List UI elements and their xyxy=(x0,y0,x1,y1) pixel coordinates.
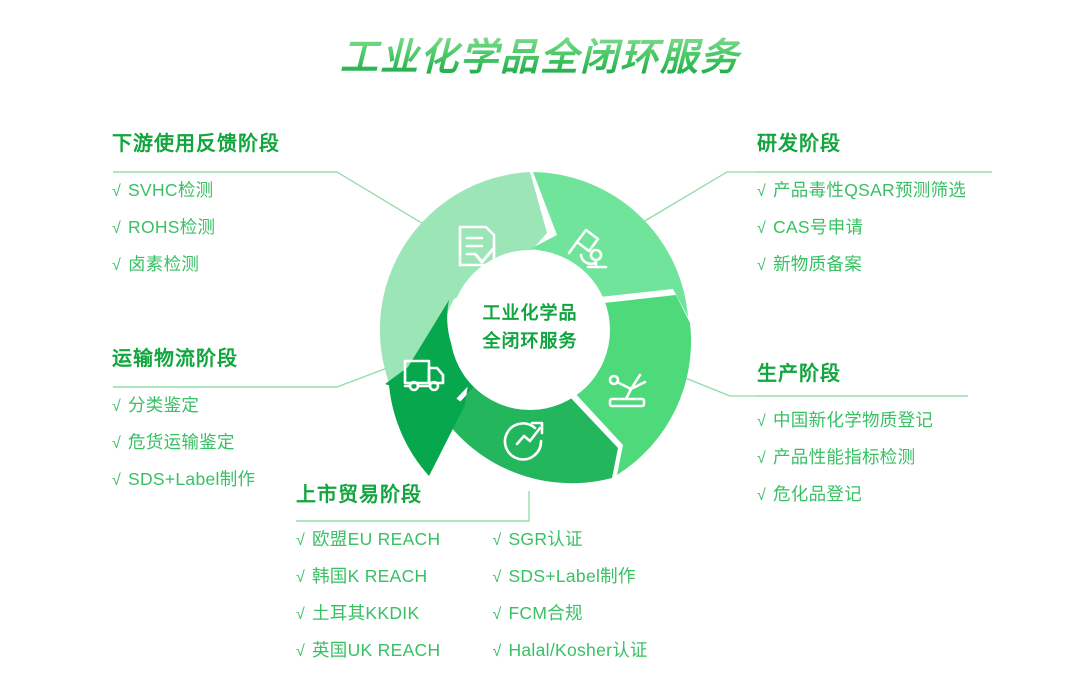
check-icon: √ xyxy=(757,221,773,237)
list-item: √危化品登记 xyxy=(757,486,933,504)
check-icon: √ xyxy=(492,570,508,586)
list-item-label: 土耳其KKDIK xyxy=(312,603,419,623)
list-item: √英国UK REACH xyxy=(296,642,440,660)
list-item: √危货运输鉴定 xyxy=(112,434,255,452)
list-item: √CAS号申请 xyxy=(757,219,966,237)
list-item-label: 欧盟EU REACH xyxy=(312,529,440,549)
list-item-label: SGR认证 xyxy=(508,529,582,549)
list-item-label: 韩国K REACH xyxy=(312,566,428,586)
stage-logistics: 运输物流阶段 √分类鉴定 √危货运输鉴定 √SDS+Label制作 xyxy=(112,347,255,508)
list-item-label: FCM合规 xyxy=(508,603,582,623)
check-icon: √ xyxy=(492,644,508,660)
list-item: √SDS+Label制作 xyxy=(112,471,255,489)
list-item-label: 产品性能指标检测 xyxy=(773,447,915,467)
list-item-label: 分类鉴定 xyxy=(128,395,199,415)
check-icon: √ xyxy=(112,473,128,489)
list-item: √Halal/Kosher认证 xyxy=(492,642,647,660)
stage-market: 上市贸易阶段 √欧盟EU REACH √韩国K REACH √土耳其KKDIK … xyxy=(296,483,648,679)
list-item: √土耳其KKDIK xyxy=(296,605,440,623)
check-icon: √ xyxy=(757,488,773,504)
check-icon: √ xyxy=(296,644,312,660)
list-item-label: 危货运输鉴定 xyxy=(128,432,235,452)
list-item-label: 英国UK REACH xyxy=(312,640,440,660)
list-item: √中国新化学物质登记 xyxy=(757,412,933,430)
list-item: √卤素检测 xyxy=(112,256,280,274)
list-item: √产品毒性QSAR预测筛选 xyxy=(757,182,966,200)
stage-production-items: √中国新化学物质登记 √产品性能指标检测 √危化品登记 xyxy=(757,412,933,504)
list-item-label: CAS号申请 xyxy=(773,217,863,237)
wheel-center-line-2: 全闭环服务 xyxy=(452,328,608,356)
wheel-center-label: 工业化学品 全闭环服务 xyxy=(452,300,608,356)
list-item-label: ROHS检测 xyxy=(128,217,215,237)
stage-downstream: 下游使用反馈阶段 √SVHC检测 √ROHS检测 √卤素检测 xyxy=(112,132,280,293)
list-item: √FCM合规 xyxy=(492,605,647,623)
stage-logistics-title: 运输物流阶段 xyxy=(112,347,255,371)
check-icon: √ xyxy=(757,414,773,430)
list-item-label: SVHC检测 xyxy=(128,180,213,200)
check-icon: √ xyxy=(757,184,773,200)
stage-market-items: √欧盟EU REACH √韩国K REACH √土耳其KKDIK √英国UK R… xyxy=(296,531,648,679)
stage-production: 生产阶段 √中国新化学物质登记 √产品性能指标检测 √危化品登记 xyxy=(757,362,933,523)
stage-production-title: 生产阶段 xyxy=(757,362,933,386)
stage-market-column-1: √欧盟EU REACH √韩国K REACH √土耳其KKDIK √英国UK R… xyxy=(296,531,440,679)
page-title: 工业化学品全闭环服务 xyxy=(0,36,1080,82)
check-icon: √ xyxy=(112,221,128,237)
list-item: √韩国K REACH xyxy=(296,568,440,586)
check-icon: √ xyxy=(296,607,312,623)
list-item: √欧盟EU REACH xyxy=(296,531,440,549)
check-icon: √ xyxy=(112,258,128,274)
check-icon: √ xyxy=(112,184,128,200)
list-item-label: SDS+Label制作 xyxy=(508,566,635,586)
list-item: √ROHS检测 xyxy=(112,219,280,237)
list-item: √SDS+Label制作 xyxy=(492,568,647,586)
check-icon: √ xyxy=(492,607,508,623)
check-icon: √ xyxy=(112,436,128,452)
check-icon: √ xyxy=(757,451,773,467)
list-item-label: 产品毒性QSAR预测筛选 xyxy=(773,180,966,200)
stage-rnd: 研发阶段 √产品毒性QSAR预测筛选 √CAS号申请 √新物质备案 xyxy=(757,132,966,293)
stage-downstream-title: 下游使用反馈阶段 xyxy=(112,132,280,156)
check-icon: √ xyxy=(296,570,312,586)
stage-market-title: 上市贸易阶段 xyxy=(296,483,648,507)
stage-rnd-items: √产品毒性QSAR预测筛选 √CAS号申请 √新物质备案 xyxy=(757,182,966,274)
list-item: √分类鉴定 xyxy=(112,397,255,415)
check-icon: √ xyxy=(112,399,128,415)
list-item-label: 危化品登记 xyxy=(773,484,862,504)
list-item: √SGR认证 xyxy=(492,531,647,549)
list-item-label: SDS+Label制作 xyxy=(128,469,255,489)
check-icon: √ xyxy=(757,258,773,274)
list-item: √SVHC检测 xyxy=(112,182,280,200)
list-item: √产品性能指标检测 xyxy=(757,449,933,467)
check-icon: √ xyxy=(492,533,508,549)
list-item: √新物质备案 xyxy=(757,256,966,274)
stage-downstream-items: √SVHC检测 √ROHS检测 √卤素检测 xyxy=(112,182,280,274)
list-item-label: 中国新化学物质登记 xyxy=(773,410,933,430)
stage-market-column-2: √SGR认证 √SDS+Label制作 √FCM合规 √Halal/Kosher… xyxy=(492,531,647,679)
list-item-label: Halal/Kosher认证 xyxy=(508,640,647,660)
wheel-center-line-1: 工业化学品 xyxy=(452,300,608,328)
check-icon: √ xyxy=(296,533,312,549)
list-item-label: 新物质备案 xyxy=(773,254,862,274)
list-item-label: 卤素检测 xyxy=(128,254,199,274)
stage-rnd-title: 研发阶段 xyxy=(757,132,966,156)
stage-logistics-items: √分类鉴定 √危货运输鉴定 √SDS+Label制作 xyxy=(112,397,255,489)
